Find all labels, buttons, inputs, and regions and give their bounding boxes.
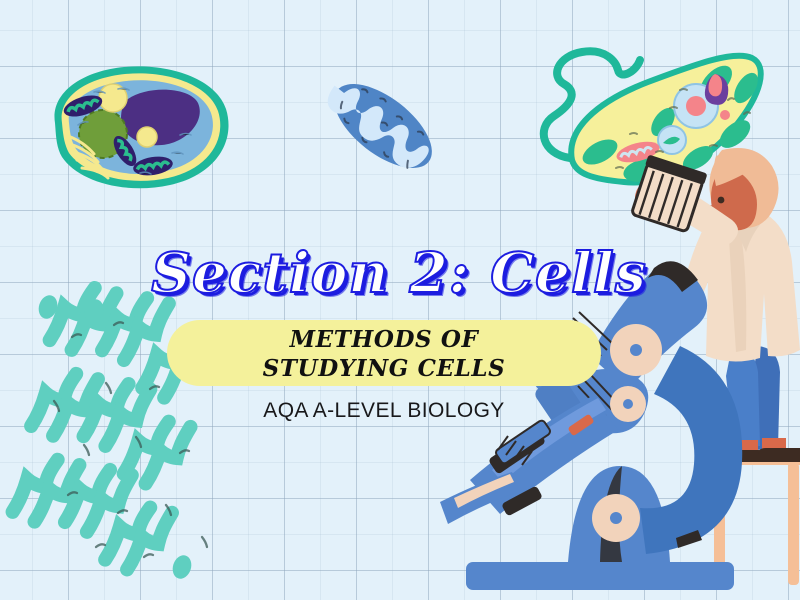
presentation-slide: Section 2: Cells METHODS OF STUDYING CEL… xyxy=(0,0,800,600)
course-label: AQA A-LEVEL BIOLOGY xyxy=(167,399,601,423)
subtitle: METHODS OF STUDYING CELLS xyxy=(167,325,601,383)
outer-membrane xyxy=(320,68,446,184)
shoe xyxy=(758,448,800,462)
granule xyxy=(720,110,730,120)
plant-cell-diagram xyxy=(20,45,250,205)
knob-center xyxy=(623,399,633,409)
knob-center xyxy=(610,512,622,524)
knob-center xyxy=(630,344,642,356)
subtitle-line-2: STUDYING CELLS xyxy=(167,354,601,383)
page-title-text: Section 2: Cells xyxy=(151,240,647,305)
nucleolus xyxy=(686,96,706,116)
vesicle xyxy=(137,127,157,147)
eye xyxy=(718,197,725,204)
mitochondrion-diagram xyxy=(318,66,448,186)
subtitle-line-1: METHODS OF xyxy=(167,325,601,354)
microscope-base xyxy=(466,562,734,590)
page-title: Section 2: Cells xyxy=(0,240,799,305)
